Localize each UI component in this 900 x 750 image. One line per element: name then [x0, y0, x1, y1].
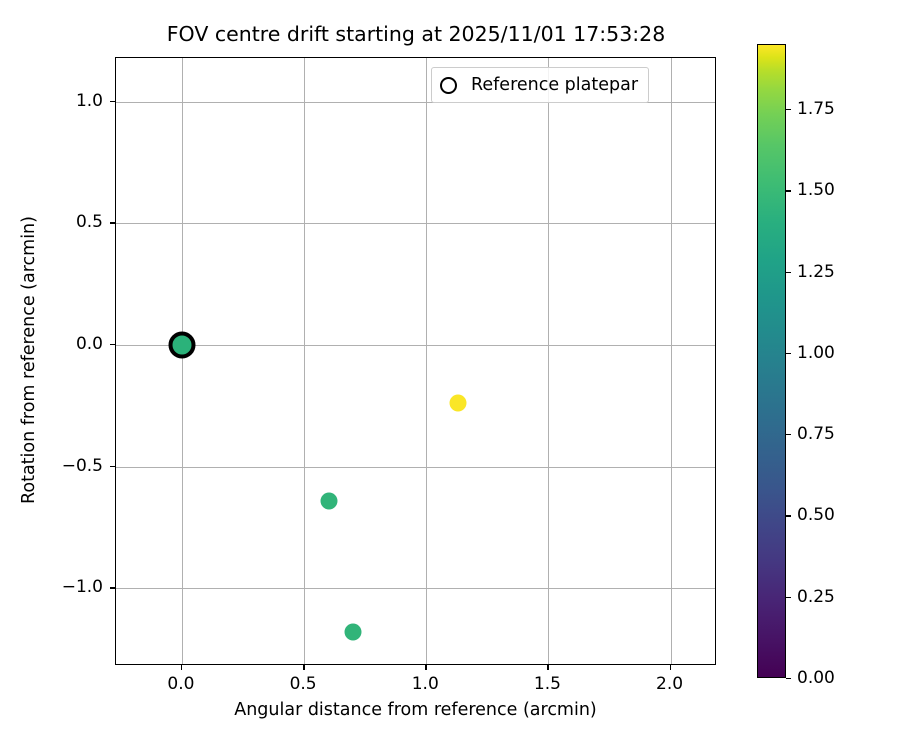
x-tick-label: 1.0: [412, 674, 439, 694]
x-tick-label: 1.5: [534, 674, 561, 694]
colorbar[interactable]: 0.000.250.500.751.001.251.501.75: [757, 44, 786, 678]
x-tick-mark: [670, 665, 671, 670]
x-tick-label: 0.5: [290, 674, 317, 694]
colorbar-tick-mark: [786, 190, 791, 191]
gridline-vertical: [548, 58, 549, 664]
x-axis-label: Angular distance from reference (arcmin): [115, 700, 716, 720]
colorbar-tick-label: 1.75: [797, 99, 835, 119]
colorbar-tick-label: 0.25: [797, 587, 835, 607]
x-tick-label: 2.0: [656, 674, 683, 694]
data-point[interactable]: [450, 395, 467, 412]
gridline-vertical: [182, 58, 183, 664]
y-tick-mark: [110, 344, 115, 345]
gridline-horizontal: [116, 223, 715, 224]
legend-item-label: Reference platepar: [471, 75, 638, 95]
y-tick-mark: [110, 587, 115, 588]
gridline-horizontal: [116, 467, 715, 468]
x-tick-label: 0.0: [167, 674, 194, 694]
colorbar-tick-mark: [786, 272, 791, 273]
gridline-vertical: [671, 58, 672, 664]
colorbar-tick-label: 0.50: [797, 505, 835, 525]
reference-data-point[interactable]: [168, 331, 195, 358]
x-tick-mark: [425, 665, 426, 670]
colorbar-tick-mark: [786, 597, 791, 598]
colorbar-tick-label: 1.25: [797, 262, 835, 282]
figure-canvas: FOV centre drift starting at 2025/11/01 …: [0, 0, 900, 750]
x-tick-mark: [181, 665, 182, 670]
x-tick-mark: [303, 665, 304, 670]
y-tick-mark: [110, 101, 115, 102]
legend[interactable]: Reference platepar: [431, 67, 649, 103]
colorbar-tick-label: 0.00: [797, 668, 835, 688]
colorbar-tick-mark: [786, 353, 791, 354]
y-tick-mark: [110, 222, 115, 223]
colorbar-tick-label: 0.75: [797, 424, 835, 444]
colorbar-tick-label: 1.50: [797, 180, 835, 200]
colorbar-tick-label: 1.00: [797, 343, 835, 363]
gridline-horizontal: [116, 588, 715, 589]
legend-marker-open-circle-icon: [440, 77, 457, 94]
colorbar-tick-mark: [786, 434, 791, 435]
y-tick-mark: [110, 466, 115, 467]
colorbar-gradient: [757, 44, 786, 678]
colorbar-tick-mark: [786, 678, 791, 679]
gridline-vertical: [304, 58, 305, 664]
y-axis-label: Rotation from reference (arcmin): [19, 56, 39, 664]
data-point[interactable]: [320, 492, 337, 509]
page-title: FOV centre drift starting at 2025/11/01 …: [115, 22, 717, 46]
data-point[interactable]: [344, 623, 361, 640]
gridline-vertical: [426, 58, 427, 664]
colorbar-tick-mark: [786, 515, 791, 516]
gridline-horizontal: [116, 345, 715, 346]
colorbar-tick-mark: [786, 109, 791, 110]
plot-area[interactable]: [115, 57, 716, 665]
x-tick-mark: [547, 665, 548, 670]
